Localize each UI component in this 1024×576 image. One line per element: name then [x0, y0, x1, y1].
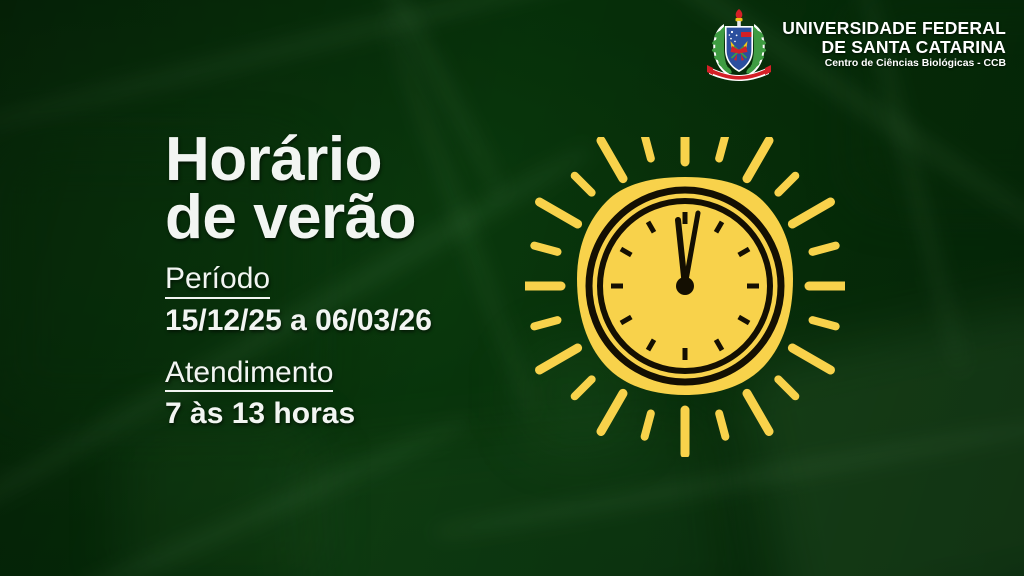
- field-period-value: 15/12/25 a 06/03/26: [165, 303, 432, 338]
- logo-line-3: Centro de Ciências Biológicas - CCB: [782, 56, 1006, 72]
- field-service-hours-value: 7 às 13 horas: [165, 396, 432, 431]
- sun-ray: [645, 137, 651, 159]
- sun-ray: [813, 320, 836, 326]
- sun-ray: [719, 137, 725, 159]
- field-period: Período 15/12/25 a 06/03/26: [165, 246, 432, 338]
- sun-ray: [792, 348, 830, 370]
- announcement-text-block: Horário de verão Período 15/12/25 a 06/0…: [165, 131, 432, 431]
- clock-center-hub: [676, 277, 694, 295]
- field-service-hours: Atendimento 7 às 13 horas: [165, 338, 432, 432]
- sun-ray: [575, 176, 592, 193]
- field-period-label: Período: [165, 262, 270, 298]
- sun-clock-illustration: [525, 137, 845, 457]
- sun-ray: [534, 320, 557, 326]
- sun-ray: [778, 176, 795, 193]
- sun-ray: [747, 393, 769, 431]
- background-vignette: [0, 0, 1024, 576]
- ufsc-logo: UNIVERSIDADE FEDERAL DE SANTA CATARINA C…: [704, 6, 1006, 86]
- sun-ray: [534, 246, 557, 252]
- sun-ray: [540, 202, 578, 224]
- page-title: Horário de verão: [165, 131, 432, 246]
- logo-line-2: DE SANTA CATARINA: [782, 38, 1006, 57]
- sun-ray: [540, 348, 578, 370]
- sun-ray: [601, 393, 623, 431]
- sun-ray: [813, 246, 836, 252]
- sun-ray: [601, 141, 623, 179]
- sun-clock-icon: [525, 137, 845, 457]
- field-service-hours-label: Atendimento: [165, 356, 333, 392]
- sun-ray: [792, 202, 830, 224]
- sun-ray: [575, 379, 592, 396]
- sun-ray: [747, 141, 769, 179]
- sun-ray: [645, 414, 651, 437]
- sun-ray: [719, 414, 725, 437]
- ufsc-crest-icon: [704, 6, 774, 86]
- headline-line-2: de verão: [165, 189, 432, 247]
- sun-ray: [778, 379, 795, 396]
- summer-hours-announcement-banner: UNIVERSIDADE FEDERAL DE SANTA CATARINA C…: [0, 0, 1024, 576]
- logo-line-1: UNIVERSIDADE FEDERAL: [782, 19, 1006, 38]
